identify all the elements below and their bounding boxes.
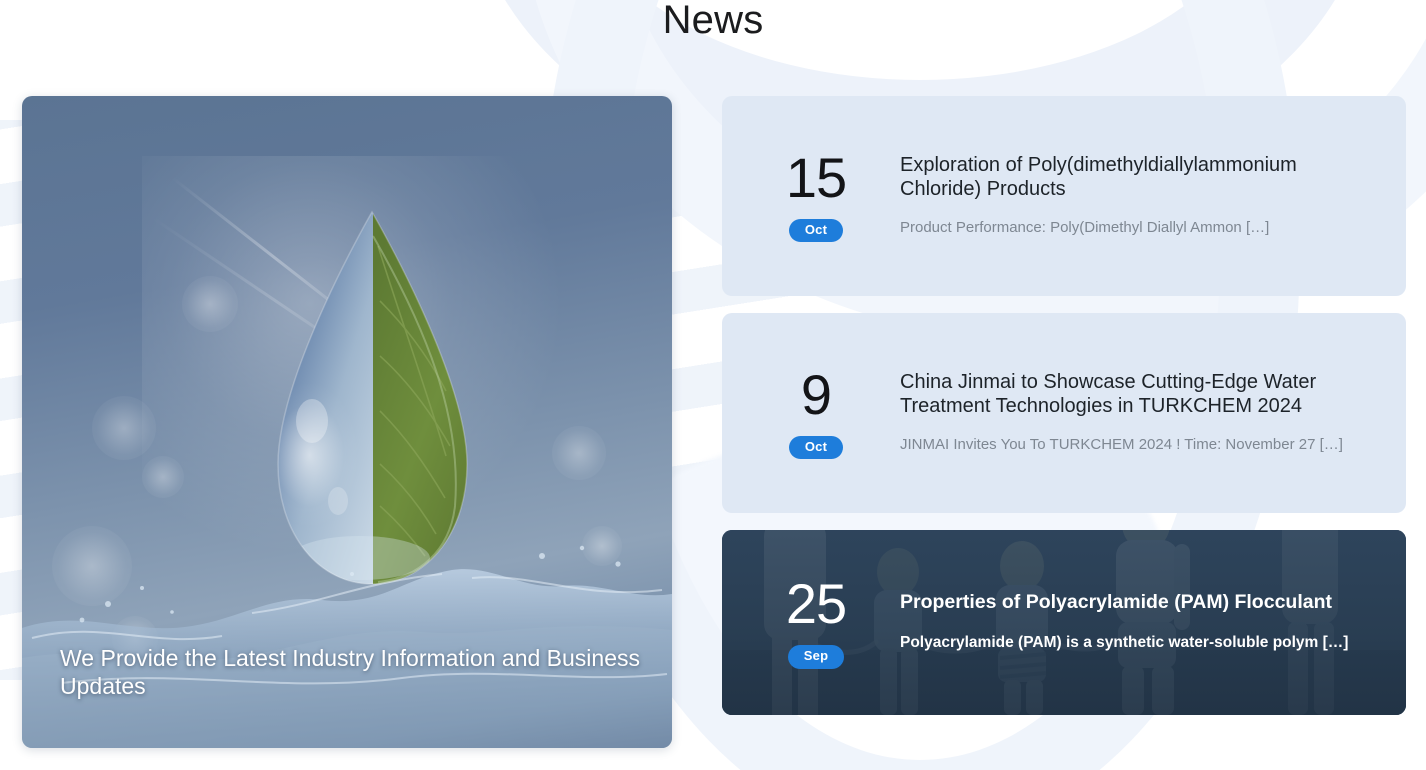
news-card-1[interactable]: 15 Oct Exploration of Poly(dimethyldiall… <box>722 96 1406 296</box>
news-month-badge: Oct <box>789 436 843 459</box>
news-day: 15 <box>786 150 846 206</box>
hero-feature-card[interactable]: We Provide the Latest Industry Informati… <box>22 96 672 748</box>
bokeh-decor <box>92 396 156 460</box>
news-day: 25 <box>786 576 846 632</box>
news-date-3: 25 Sep <box>722 576 900 668</box>
news-card-3[interactable]: 25 Sep Properties of Polyacrylamide (PAM… <box>722 530 1406 715</box>
news-list: 15 Oct Exploration of Poly(dimethyldiall… <box>722 96 1406 715</box>
news-title-link[interactable]: Exploration of Poly(dimethyldiallylammon… <box>900 153 1372 201</box>
water-splash-decor <box>22 508 672 748</box>
news-title-link[interactable]: Properties of Polyacrylamide (PAM) Flocc… <box>900 591 1372 614</box>
news-card-2[interactable]: 9 Oct China Jinmai to Showcase Cutting-E… <box>722 313 1406 513</box>
hero-caption: We Provide the Latest Industry Informati… <box>60 644 650 700</box>
news-excerpt: Product Performance: Poly(Dimethyl Diall… <box>900 218 1372 238</box>
page-title: News <box>0 0 1426 46</box>
news-excerpt: JINMAI Invites You To TURKCHEM 2024 ! Ti… <box>900 435 1372 455</box>
news-month-badge: Oct <box>789 219 843 242</box>
news-body-3: Properties of Polyacrylamide (PAM) Flocc… <box>900 591 1406 653</box>
news-section-page: News <box>0 0 1426 770</box>
news-date-1: 15 Oct <box>722 150 900 242</box>
news-title-link[interactable]: China Jinmai to Showcase Cutting-Edge Wa… <box>900 370 1372 418</box>
bokeh-decor <box>182 276 238 332</box>
news-body-2: China Jinmai to Showcase Cutting-Edge Wa… <box>900 370 1406 455</box>
news-date-2: 9 Oct <box>722 367 900 459</box>
bokeh-decor <box>142 456 184 498</box>
news-body-1: Exploration of Poly(dimethyldiallylammon… <box>900 153 1406 238</box>
news-day: 9 <box>801 367 831 423</box>
news-month-badge: Sep <box>788 645 844 668</box>
bokeh-decor <box>552 426 606 480</box>
news-excerpt: Polyacrylamide (PAM) is a synthetic wate… <box>900 633 1372 654</box>
content-wrapper: News <box>0 0 1426 770</box>
